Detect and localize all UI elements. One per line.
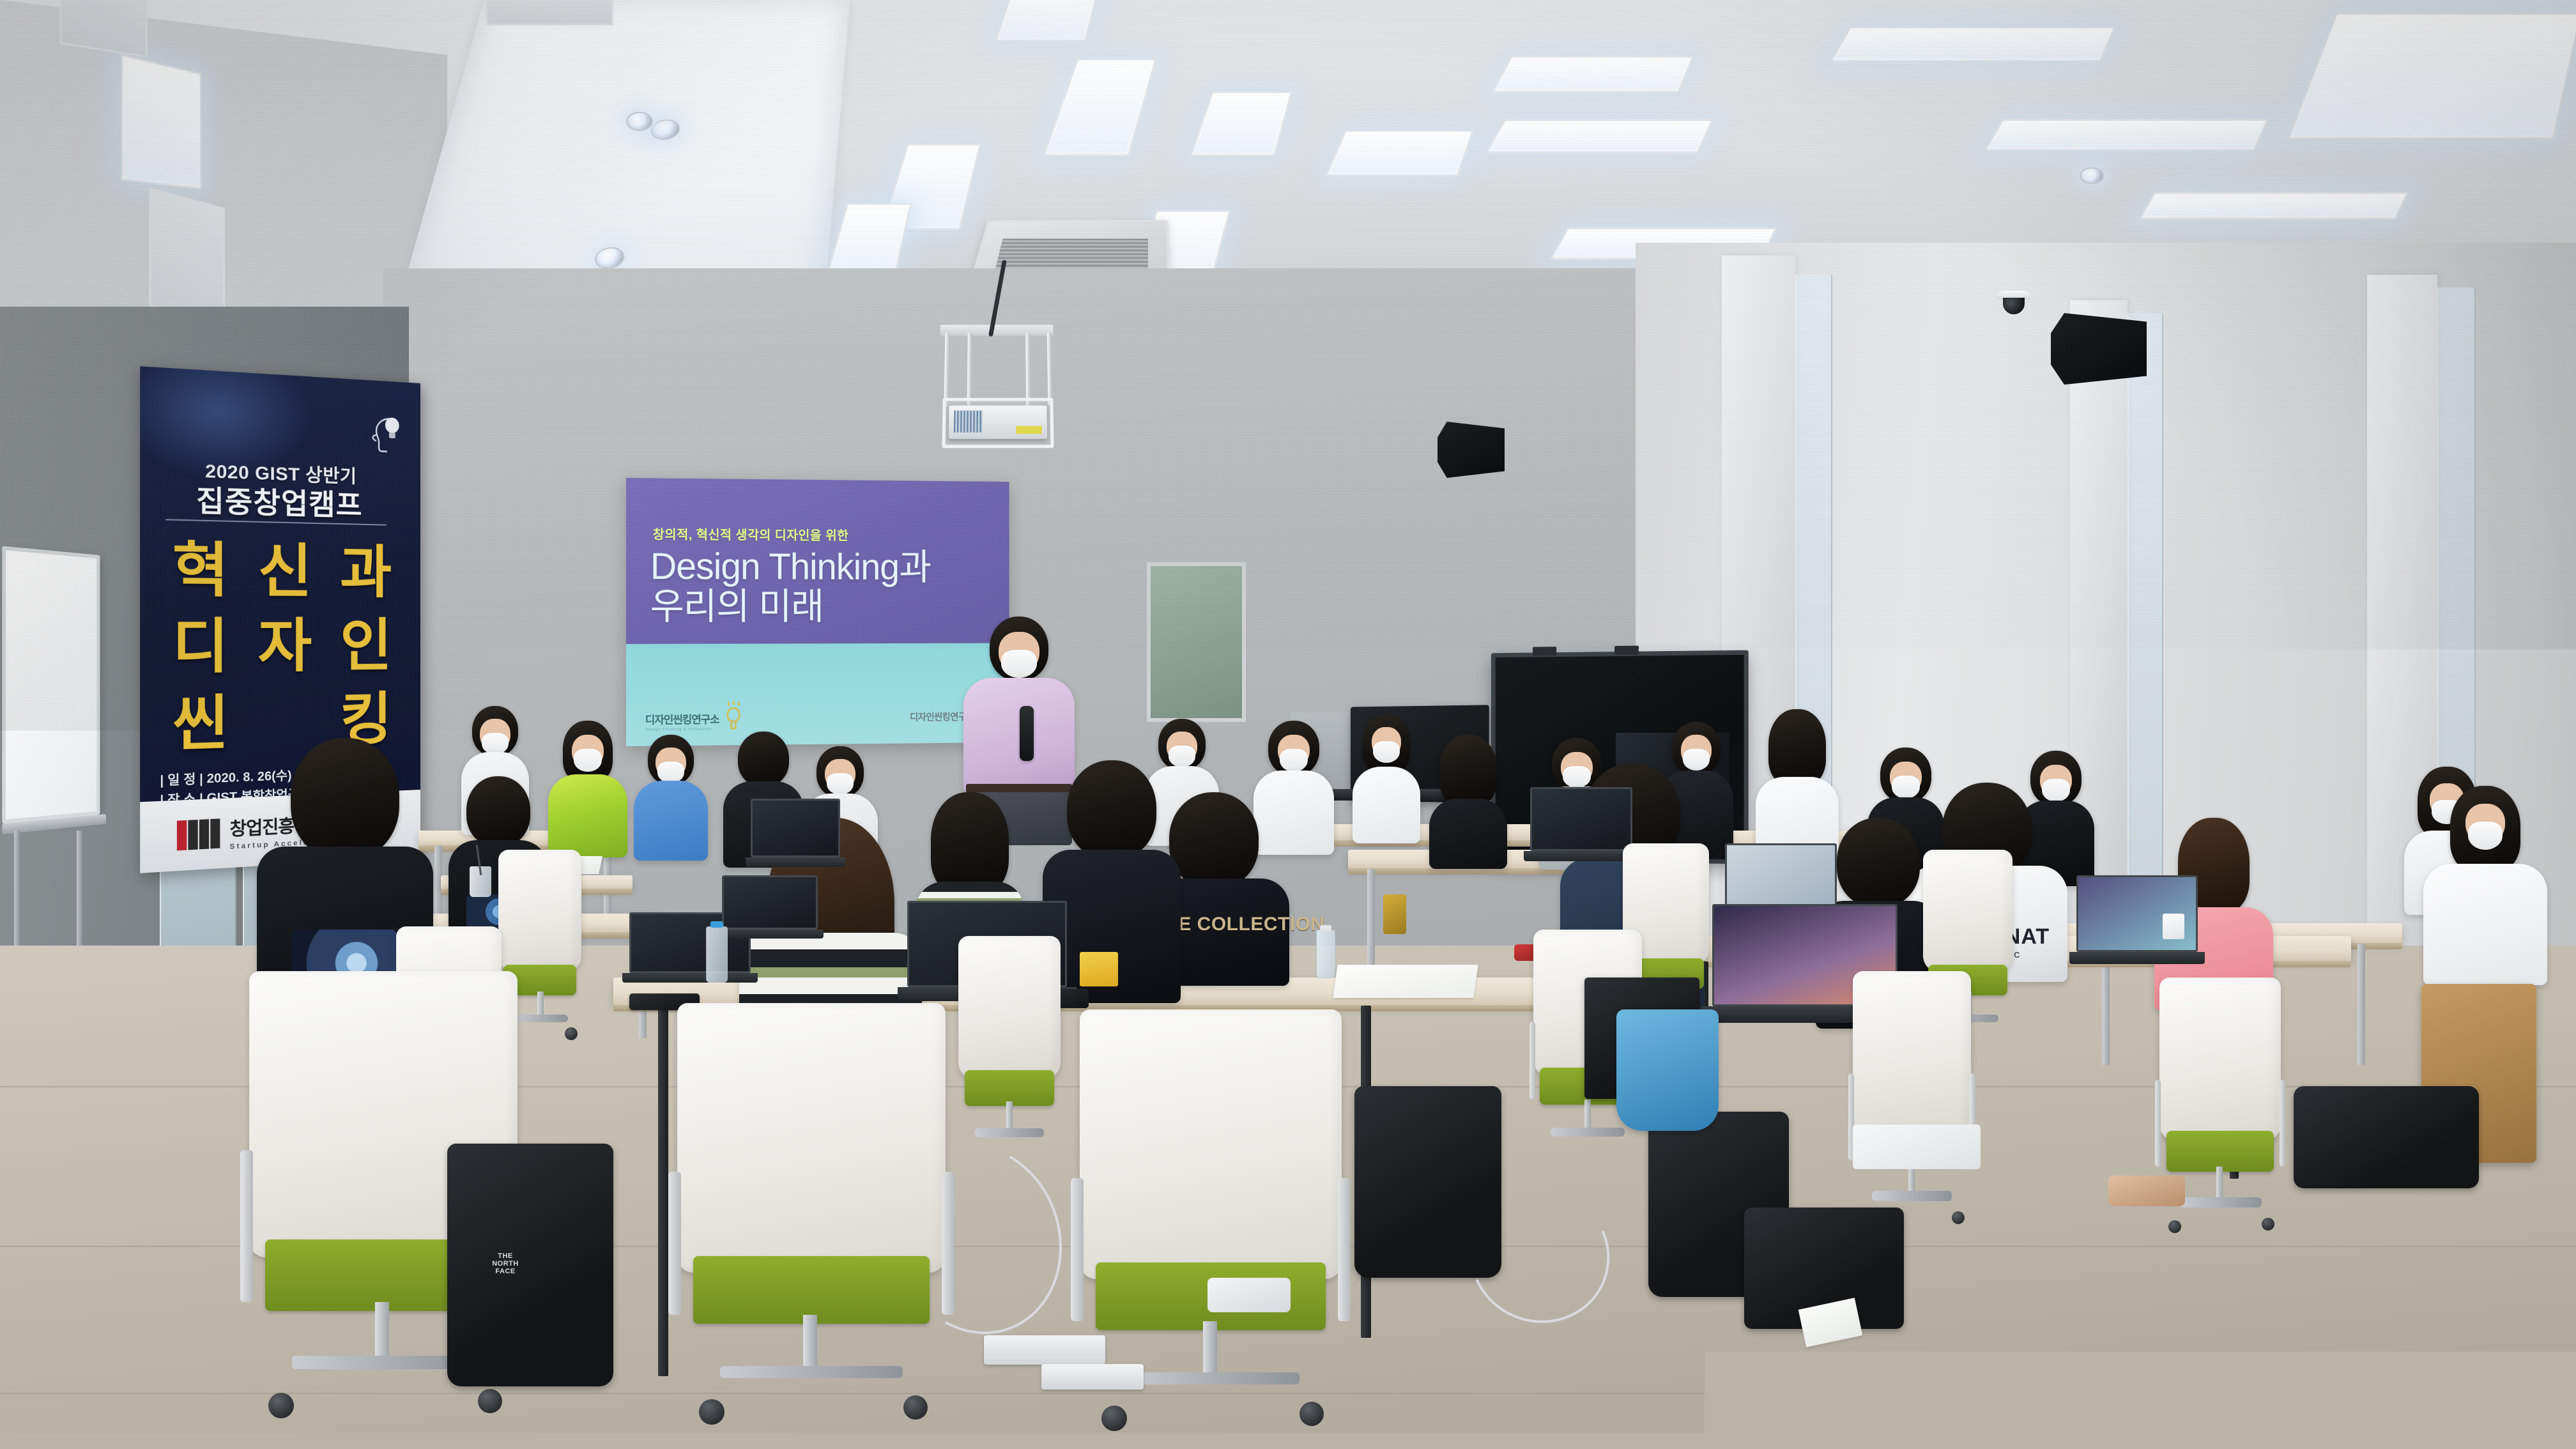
downlight-icon bbox=[649, 119, 682, 140]
head bbox=[291, 738, 399, 859]
cctv-camera-icon bbox=[1997, 291, 2031, 316]
head bbox=[1067, 760, 1156, 859]
audience-member bbox=[546, 721, 629, 855]
torso bbox=[2423, 864, 2547, 985]
torso bbox=[634, 781, 708, 861]
slide-logo: 디자인씬킹연구소 Design Thinking & Innovation bbox=[645, 706, 743, 732]
chair-post bbox=[1203, 1321, 1217, 1380]
caster-wheel bbox=[699, 1399, 724, 1425]
sneaker bbox=[977, 1137, 1061, 1173]
slide-title-line1: Design Thinking과 bbox=[650, 547, 972, 587]
chair-arm bbox=[2280, 1080, 2285, 1167]
lift-arm bbox=[1047, 332, 1053, 406]
chair-back bbox=[2159, 977, 2281, 1141]
kraft-box bbox=[2506, 1367, 2576, 1432]
caster-wheel bbox=[1299, 1402, 1324, 1426]
microphone-icon[interactable] bbox=[1020, 706, 1034, 761]
projector bbox=[949, 406, 1047, 439]
supply-boxes bbox=[2365, 1353, 2576, 1449]
head bbox=[1768, 709, 1826, 786]
downlight-icon bbox=[2080, 167, 2104, 184]
backpack-brand-label: THE NORTH FACE bbox=[488, 1252, 523, 1269]
chair-arm bbox=[1529, 1022, 1535, 1100]
torso bbox=[1429, 799, 1507, 869]
audience-member bbox=[632, 735, 709, 859]
ceiling-light-panel bbox=[121, 54, 201, 190]
projector-label bbox=[1016, 426, 1042, 434]
downlight-icon bbox=[593, 247, 627, 268]
slide-title: Design Thinking과 우리의 미래 bbox=[650, 547, 972, 627]
tv-mount-nub bbox=[1614, 646, 1639, 655]
chair-back bbox=[1080, 1009, 1342, 1279]
laptop-screen bbox=[1530, 787, 1632, 851]
slide-kicker: 창의적, 혁신적 생각의 디자인을 위한 bbox=[653, 524, 849, 544]
laptop[interactable] bbox=[722, 875, 818, 930]
chair-arm bbox=[240, 1150, 253, 1302]
laptop-base bbox=[1524, 851, 1638, 861]
caster-wheel bbox=[478, 1389, 502, 1413]
projector-vent bbox=[954, 411, 983, 433]
cctv-dome bbox=[2003, 298, 2025, 314]
laptop-base bbox=[622, 973, 758, 983]
laptop-base bbox=[2069, 952, 2205, 964]
slide-logo-subtext: Design Thinking & Innovation bbox=[645, 728, 719, 732]
laptop-base bbox=[716, 930, 824, 939]
slide-logo-text: 디자인씬킹연구소 bbox=[645, 710, 719, 727]
torso bbox=[1353, 767, 1420, 843]
caster-wheel bbox=[565, 1027, 578, 1040]
water-bottle[interactable] bbox=[1316, 930, 1335, 978]
ceiling-light-panel bbox=[1043, 59, 1157, 157]
banner-char: 디 bbox=[172, 618, 229, 675]
lift-arm bbox=[967, 332, 972, 406]
banner-char: 인 bbox=[340, 618, 392, 673]
audience-member bbox=[2421, 786, 2549, 984]
gist-logo-icon bbox=[177, 818, 222, 850]
desk-leg bbox=[2357, 944, 2365, 1065]
yellow-notebook[interactable] bbox=[1080, 952, 1118, 986]
chair-base bbox=[1551, 1128, 1625, 1137]
ceiling-light-panel bbox=[1984, 119, 2269, 151]
face-mask-icon bbox=[657, 762, 684, 783]
chair-post bbox=[803, 1315, 817, 1374]
head bbox=[738, 732, 789, 786]
projection-screen: 창의적, 혁신적 생각의 디자인을 위한 Design Thinking과 우리… bbox=[626, 478, 1009, 746]
face-mask-icon bbox=[1001, 650, 1037, 678]
audience-member bbox=[1428, 735, 1508, 866]
banner-char: 자 bbox=[258, 618, 312, 674]
desk-leg bbox=[658, 1006, 668, 1376]
banner-headline-grid: 혁 신 과 디 자 인 씬 킹 bbox=[157, 531, 406, 763]
ceiling-light-panel bbox=[1190, 91, 1292, 157]
face-mask-icon bbox=[574, 749, 602, 772]
banner-char: 신 bbox=[258, 543, 312, 599]
laptop-screen bbox=[722, 875, 818, 930]
duffel-bag[interactable] bbox=[2294, 1086, 2479, 1188]
head-lightbulb-icon bbox=[357, 411, 403, 459]
back-window bbox=[1147, 562, 1246, 722]
chair-arm bbox=[1338, 1178, 1351, 1321]
chair[interactable] bbox=[1853, 971, 1971, 1227]
whiteboard bbox=[2, 546, 100, 824]
umbrella[interactable] bbox=[1616, 1009, 1719, 1131]
torso bbox=[548, 774, 627, 857]
gold-can[interactable] bbox=[1383, 894, 1406, 934]
chair-base bbox=[1122, 1372, 1300, 1385]
downlight-icon bbox=[626, 112, 653, 131]
sandal bbox=[2108, 1176, 2185, 1206]
lift-arm bbox=[1025, 332, 1031, 408]
lift-arm bbox=[944, 332, 949, 407]
lift-ceiling-plate bbox=[940, 325, 1053, 335]
ceiling-light-panel bbox=[2139, 192, 2409, 220]
tv-mount-nub bbox=[1533, 647, 1556, 655]
banner-char: 혁 bbox=[172, 541, 229, 598]
caster-wheel bbox=[903, 1395, 928, 1420]
chair-base bbox=[512, 1015, 568, 1022]
audience-member bbox=[1351, 714, 1422, 842]
ceiling-light-panel bbox=[1325, 130, 1474, 176]
power-strip[interactable] bbox=[1041, 1364, 1144, 1390]
head bbox=[1837, 818, 1920, 907]
backpack[interactable]: THE NORTH FACE bbox=[447, 1144, 613, 1386]
chair-back bbox=[1853, 971, 1971, 1135]
chair-arm bbox=[1071, 1178, 1084, 1321]
bottle-cap bbox=[1320, 925, 1331, 931]
chair-arm bbox=[668, 1172, 681, 1315]
laptop-base bbox=[746, 857, 846, 867]
face-mask-icon bbox=[1280, 749, 1308, 772]
chair-base bbox=[720, 1366, 903, 1379]
chair-seat bbox=[2166, 1131, 2273, 1172]
chair-base bbox=[2179, 1197, 2261, 1207]
chair-back bbox=[1923, 850, 2012, 972]
head bbox=[466, 776, 530, 847]
water-bottle[interactable] bbox=[706, 926, 728, 983]
wall-speaker-icon bbox=[1437, 422, 1505, 478]
caster-wheel bbox=[2262, 1218, 2274, 1230]
caster-wheel bbox=[268, 1393, 294, 1418]
chair-back bbox=[498, 850, 581, 972]
ceiling-light-panel bbox=[1830, 26, 2116, 62]
ceiling-light-panel bbox=[2287, 13, 2576, 139]
face-mask-icon bbox=[2468, 822, 2503, 850]
ceiling-light-panel bbox=[995, 0, 1099, 42]
ceiling-panel-recess bbox=[149, 187, 225, 319]
paper-cup[interactable] bbox=[2163, 914, 2184, 939]
chair-arm bbox=[2155, 1080, 2161, 1167]
slide-content: 창의적, 혁신적 생각의 디자인을 위한 Design Thinking과 우리… bbox=[626, 478, 1009, 746]
face-mask-icon bbox=[1373, 741, 1400, 763]
sneaker bbox=[1207, 1278, 1291, 1312]
banner-char: 씬 bbox=[172, 694, 229, 753]
caster-wheel bbox=[2168, 1220, 2181, 1233]
head bbox=[1439, 735, 1497, 806]
power-strip[interactable] bbox=[984, 1335, 1105, 1365]
head bbox=[931, 792, 1009, 894]
face-mask-icon bbox=[827, 773, 854, 795]
desk-leg bbox=[1367, 869, 1375, 981]
banner-char: 과 bbox=[340, 544, 392, 599]
head bbox=[1169, 792, 1259, 888]
chair-base bbox=[1872, 1191, 1952, 1201]
classroom-scene: 2020 GIST 상반기 집중창업캠프 혁 신 과 디 자 인 씬 킹 | 일… bbox=[0, 0, 2576, 1449]
caster-wheel bbox=[1952, 1211, 1965, 1224]
chair-base bbox=[975, 1128, 1045, 1137]
ceiling-light-panel bbox=[1491, 56, 1694, 93]
ceiling-panel-recess bbox=[486, 0, 613, 26]
lightbulb-icon bbox=[724, 706, 742, 732]
sneaker bbox=[1853, 1124, 1981, 1169]
wall-speaker-icon bbox=[2051, 313, 2147, 385]
bottle-cap bbox=[710, 921, 723, 928]
face-mask-icon bbox=[482, 733, 509, 755]
laptop[interactable] bbox=[751, 799, 840, 857]
schedule-label: | 일 정 | bbox=[160, 772, 203, 788]
ceiling-light-panel bbox=[1485, 119, 1713, 153]
banner-title: 집중창업캠프 bbox=[153, 475, 401, 525]
paper-sheet[interactable] bbox=[1333, 965, 1478, 998]
projector-lift bbox=[933, 325, 1063, 450]
chair-seat bbox=[693, 1256, 930, 1324]
laptop[interactable] bbox=[1530, 787, 1632, 851]
caster-wheel bbox=[1101, 1406, 1127, 1431]
ceiling-light-panel bbox=[826, 203, 912, 275]
laptop-screen bbox=[751, 799, 840, 857]
slide-title-line2: 우리의 미래 bbox=[650, 587, 972, 627]
